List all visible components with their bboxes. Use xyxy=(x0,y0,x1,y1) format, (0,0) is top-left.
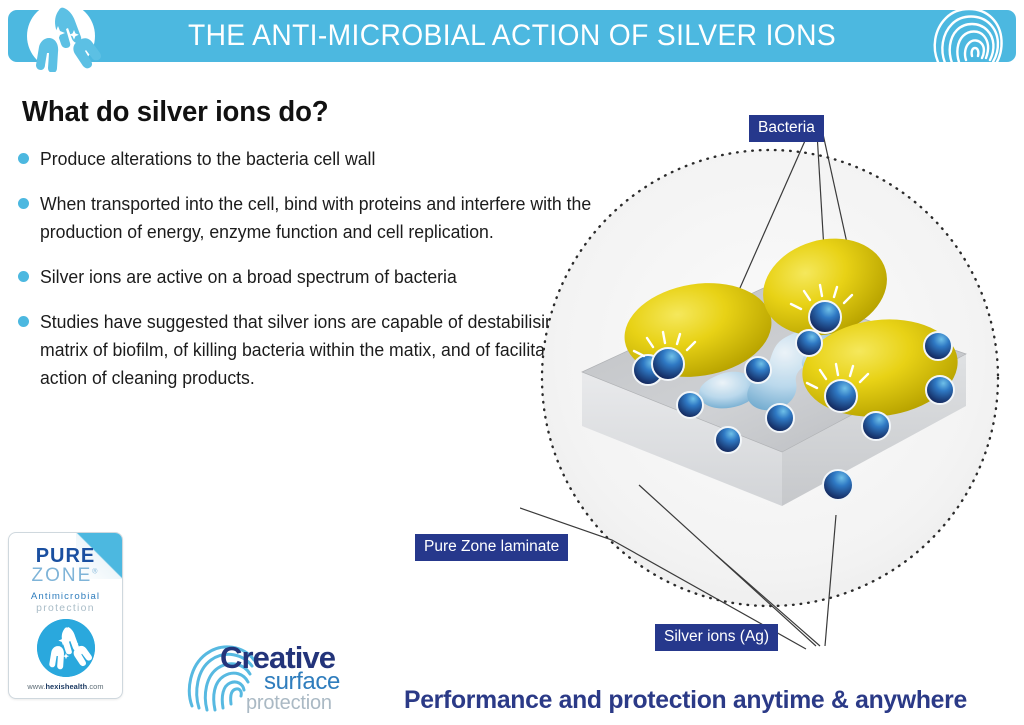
url-suffix: .com xyxy=(87,682,103,691)
silver-ion xyxy=(677,392,703,418)
infographic-canvas: THE ANTI-MICROBIAL ACTION OF SILVER IONS… xyxy=(0,0,1024,725)
diagram-label-bacteria: Bacteria xyxy=(749,115,824,142)
silver-ion xyxy=(862,412,890,440)
registered-mark: ® xyxy=(92,569,99,576)
silver-ion xyxy=(924,332,952,360)
page-title: THE ANTI-MICROBIAL ACTION OF SILVER IONS xyxy=(31,10,994,62)
creative-surface-protection-logo: Creative surface protection xyxy=(186,636,346,716)
silver-ion xyxy=(809,301,841,333)
footer-tagline: Performance and protection anytime & any… xyxy=(404,686,967,715)
purezone-zone-text: ZONE xyxy=(32,565,93,586)
bullet-dot-icon xyxy=(18,316,29,327)
bullet-dot-icon xyxy=(18,271,29,282)
creative-wordmark-line3: protection xyxy=(246,692,332,715)
cleaning-hands-icon xyxy=(37,619,95,677)
section-heading: What do silver ions do? xyxy=(22,96,328,129)
silver-ion xyxy=(796,330,822,356)
silver-ion xyxy=(823,470,853,500)
diagram-label-silver-ions: Silver ions (Ag) xyxy=(655,624,778,651)
purezone-protection-text: protection xyxy=(9,603,122,614)
purezone-antimicrobial-text: Antimicrobial xyxy=(9,591,122,602)
silver-ion xyxy=(715,427,741,453)
bullet-dot-icon xyxy=(18,153,29,164)
purezone-url: www.hexishealth.com xyxy=(9,682,122,691)
silver-ion xyxy=(745,357,771,383)
silver-ion-diagram xyxy=(520,100,1024,660)
url-brand: hexishealth xyxy=(45,682,87,691)
silver-ion xyxy=(652,348,684,380)
silver-ion xyxy=(926,376,954,404)
url-prefix: www. xyxy=(27,682,45,691)
bullet-dot-icon xyxy=(18,198,29,209)
purezone-logo: PURE ZONE® Antimicrobial protection w xyxy=(8,532,123,699)
purezone-wordmark-zone: ZONE® xyxy=(9,565,122,587)
silver-ion xyxy=(766,404,794,432)
diagram-label-laminate: Pure Zone laminate xyxy=(415,534,568,561)
silver-ion xyxy=(825,380,857,412)
